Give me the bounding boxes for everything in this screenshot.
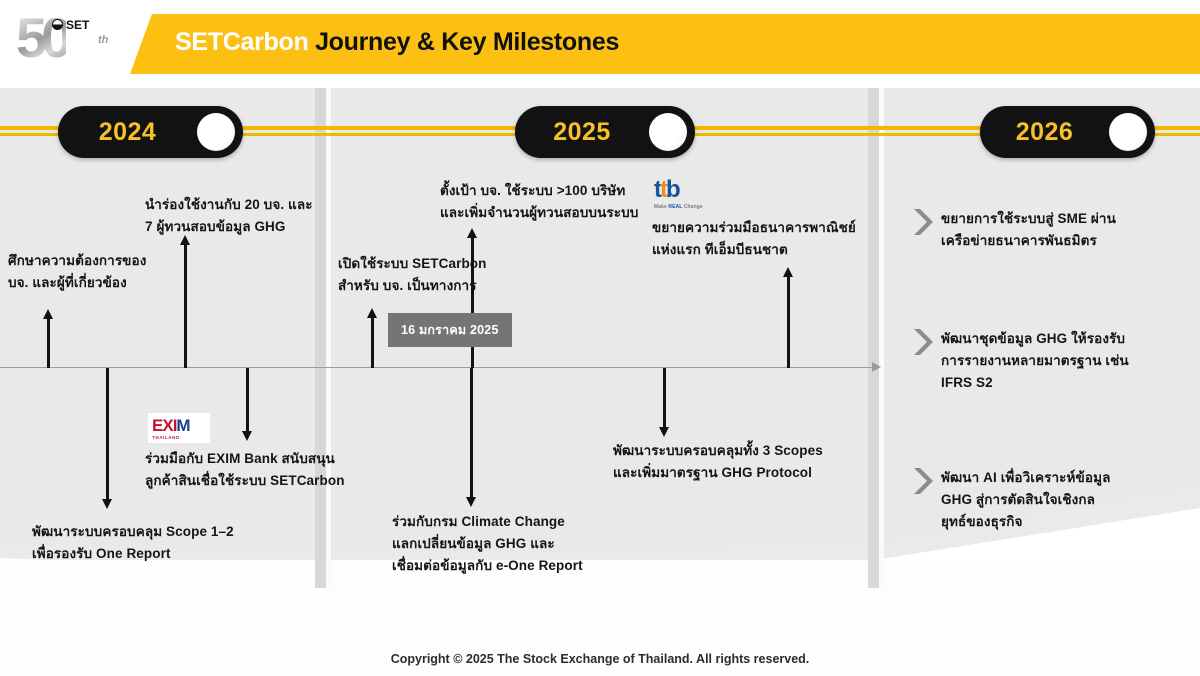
milestone-expand-to-sme: ขยายการใช้ระบบสู่ SME ผ่าน เครือข่ายธนาค… [941, 208, 1116, 252]
connector-arrow-three-scopes [663, 368, 666, 428]
ttb-letter-b: b [666, 176, 679, 203]
year-knob-icon-2024 [197, 113, 235, 151]
milestone-three-scopes-ghg-protocol: พัฒนาระบบครอบคลุมทั้ง 3 Scopes และเพิ่มม… [613, 440, 823, 484]
footer-copyright: Copyright © 2025 The Stock Exchange of T… [0, 652, 1200, 666]
milestone-line: เปิดใช้ระบบ SETCarbon [338, 253, 487, 275]
milestone-climate-change-dept: ร่วมกับกรม Climate Change แลกเปลี่ยนข้อม… [392, 511, 583, 577]
chevron-right-icon [911, 466, 933, 496]
milestone-ai-ghg-analytics: พัฒนา AI เพื่อวิเคราะห์ข้อมูล GHG สู่การ… [941, 467, 1110, 533]
milestone-line: ร่วมกับกรม Climate Change [392, 511, 583, 533]
logo-ordinal: th [98, 34, 108, 46]
timeline-baseline-arrowhead [872, 362, 881, 372]
milestone-pilot-20-companies: นำร่องใช้งานกับ 20 บจ. และ 7 ผู้ทวนสอบข้… [145, 194, 313, 238]
milestone-exim-bank-partnership: ร่วมมือกับ EXIM Bank สนับสนุน ลูกค้าสินเ… [145, 448, 345, 492]
column-separator-highlight-1 [326, 88, 331, 588]
year-pill-2025[interactable]: 2025 [515, 106, 695, 158]
milestone-line: และเพิ่มจำนวนผู้ทวนสอบบนระบบ [440, 202, 638, 224]
milestone-line: ร่วมมือกับ EXIM Bank สนับสนุน [145, 448, 345, 470]
ttb-tagline-pre: Make [654, 204, 668, 210]
exim-bank-logo: EXIM THAILAND [148, 413, 210, 443]
milestone-line: ตั้งเป้า บจ. ใช้ระบบ >100 บริษัท [440, 180, 638, 202]
chevron-right-icon [911, 207, 933, 237]
connector-arrow-ttb [787, 276, 790, 368]
connector-arrow-climate-dept [470, 368, 473, 498]
launch-date-badge: 16 มกราคม 2025 [388, 313, 512, 347]
year-label-2026: 2026 [980, 118, 1109, 147]
milestone-study-needs: ศึกษาความต้องการของ บจ. และผู้ที่เกี่ยวข… [8, 250, 146, 294]
column-separator-2024-2025 [315, 88, 326, 588]
timeline-baseline [0, 367, 878, 368]
milestone-line: 7 ผู้ทวนสอบข้อมูล GHG [145, 216, 313, 238]
connector-arrow-exim [246, 368, 249, 432]
exim-letter-x: X [162, 416, 172, 435]
year-pill-2026[interactable]: 2026 [980, 106, 1155, 158]
milestone-line: บจ. และผู้ที่เกี่ยวข้อง [8, 272, 146, 294]
milestone-scope-1-2-one-report: พัฒนาระบบครอบคลุม Scope 1–2 เพื่อรองรับ … [32, 521, 234, 565]
connector-arrow-launch [371, 317, 374, 368]
set-50th-anniversary-logo: 50 SET th [16, 8, 126, 80]
connector-arrow-scope12 [106, 368, 109, 500]
ttb-tagline-real: REAL [668, 204, 682, 210]
milestone-line: GHG สู่การตัดสินใจเชิงกล [941, 489, 1110, 511]
connector-arrow-study-needs [47, 318, 50, 368]
milestone-line: แลกเปลี่ยนข้อมูล GHG และ [392, 533, 583, 555]
year-label-2024: 2024 [58, 118, 197, 147]
milestone-line: นำร่องใช้งานกับ 20 บจ. และ [145, 194, 313, 216]
column-separator-highlight-2 [879, 88, 884, 588]
year-knob-icon-2025 [649, 113, 687, 151]
milestone-line: สำหรับ บจ. เป็นทางการ [338, 275, 487, 297]
milestone-ttb-bank-partnership: ขยายความร่วมมือธนาคารพาณิชย์ แห่งแรก ทีเ… [652, 217, 856, 261]
exim-letter-e: E [152, 416, 162, 435]
milestone-target-100-companies: ตั้งเป้า บจ. ใช้ระบบ >100 บริษัท และเพิ่… [440, 180, 638, 224]
milestone-ghg-dataset-ifrs-s2: พัฒนาชุดข้อมูล GHG ให้รองรับ การรายงานหล… [941, 328, 1129, 394]
set-dot-icon [52, 19, 63, 30]
logo-set-text: SET [66, 18, 89, 32]
milestone-line: พัฒนาชุดข้อมูล GHG ให้รองรับ [941, 328, 1129, 350]
milestone-line: ขยายความร่วมมือธนาคารพาณิชย์ [652, 217, 856, 239]
milestone-line: ขยายการใช้ระบบสู่ SME ผ่าน [941, 208, 1116, 230]
year-label-2025: 2025 [515, 118, 649, 147]
milestone-line: เชื่อมต่อข้อมูลกับ e-One Report [392, 555, 583, 577]
ttb-tagline: Make REAL Change [654, 204, 703, 210]
milestone-line: และเพิ่มมาตรฐาน GHG Protocol [613, 462, 823, 484]
milestone-line: IFRS S2 [941, 372, 1129, 394]
milestone-line: พัฒนาระบบครอบคลุมทั้ง 3 Scopes [613, 440, 823, 462]
header-band: SETCarbon Journey & Key Milestones 50 SE… [0, 0, 1200, 88]
milestone-official-launch: เปิดใช้ระบบ SETCarbon สำหรับ บจ. เป็นทาง… [338, 253, 487, 297]
milestone-line: ศึกษาความต้องการของ [8, 250, 146, 272]
column-separator-2025-2026 [868, 88, 879, 588]
ttb-tagline-post: Change [682, 204, 702, 210]
milestone-line: เครือข่ายธนาคารพันธมิตร [941, 230, 1116, 252]
year-pill-2024[interactable]: 2024 [58, 106, 243, 158]
chevron-right-icon [911, 327, 933, 357]
exim-letter-m: M [176, 416, 189, 435]
infographic-canvas: SETCarbon Journey & Key Milestones 50 SE… [0, 0, 1200, 676]
year-knob-icon-2026 [1109, 113, 1147, 151]
milestone-line: พัฒนา AI เพื่อวิเคราะห์ข้อมูล [941, 467, 1110, 489]
page-title-rest: Journey & Key Milestones [308, 28, 619, 56]
milestone-line: แห่งแรก ทีเอ็มบีธนชาต [652, 239, 856, 261]
ttb-wordmark: ttb [654, 178, 703, 202]
ttb-bank-logo: ttb Make REAL Change [654, 178, 703, 210]
milestone-line: การรายงานหลายมาตรฐาน เช่น [941, 350, 1129, 372]
page-title-highlight: SETCarbon [175, 28, 308, 56]
milestone-line: ยุทธ์ของธุรกิจ [941, 511, 1110, 533]
milestone-line: เพื่อรองรับ One Report [32, 543, 234, 565]
exim-wordmark: EXIM [152, 417, 190, 434]
milestone-line: ลูกค้าสินเชื่อใช้ระบบ SETCarbon [145, 470, 345, 492]
connector-arrow-pilot [184, 244, 187, 368]
milestone-line: พัฒนาระบบครอบคลุม Scope 1–2 [32, 521, 234, 543]
page-title: SETCarbon Journey & Key Milestones [175, 28, 619, 57]
exim-tagline: THAILAND [152, 435, 180, 440]
